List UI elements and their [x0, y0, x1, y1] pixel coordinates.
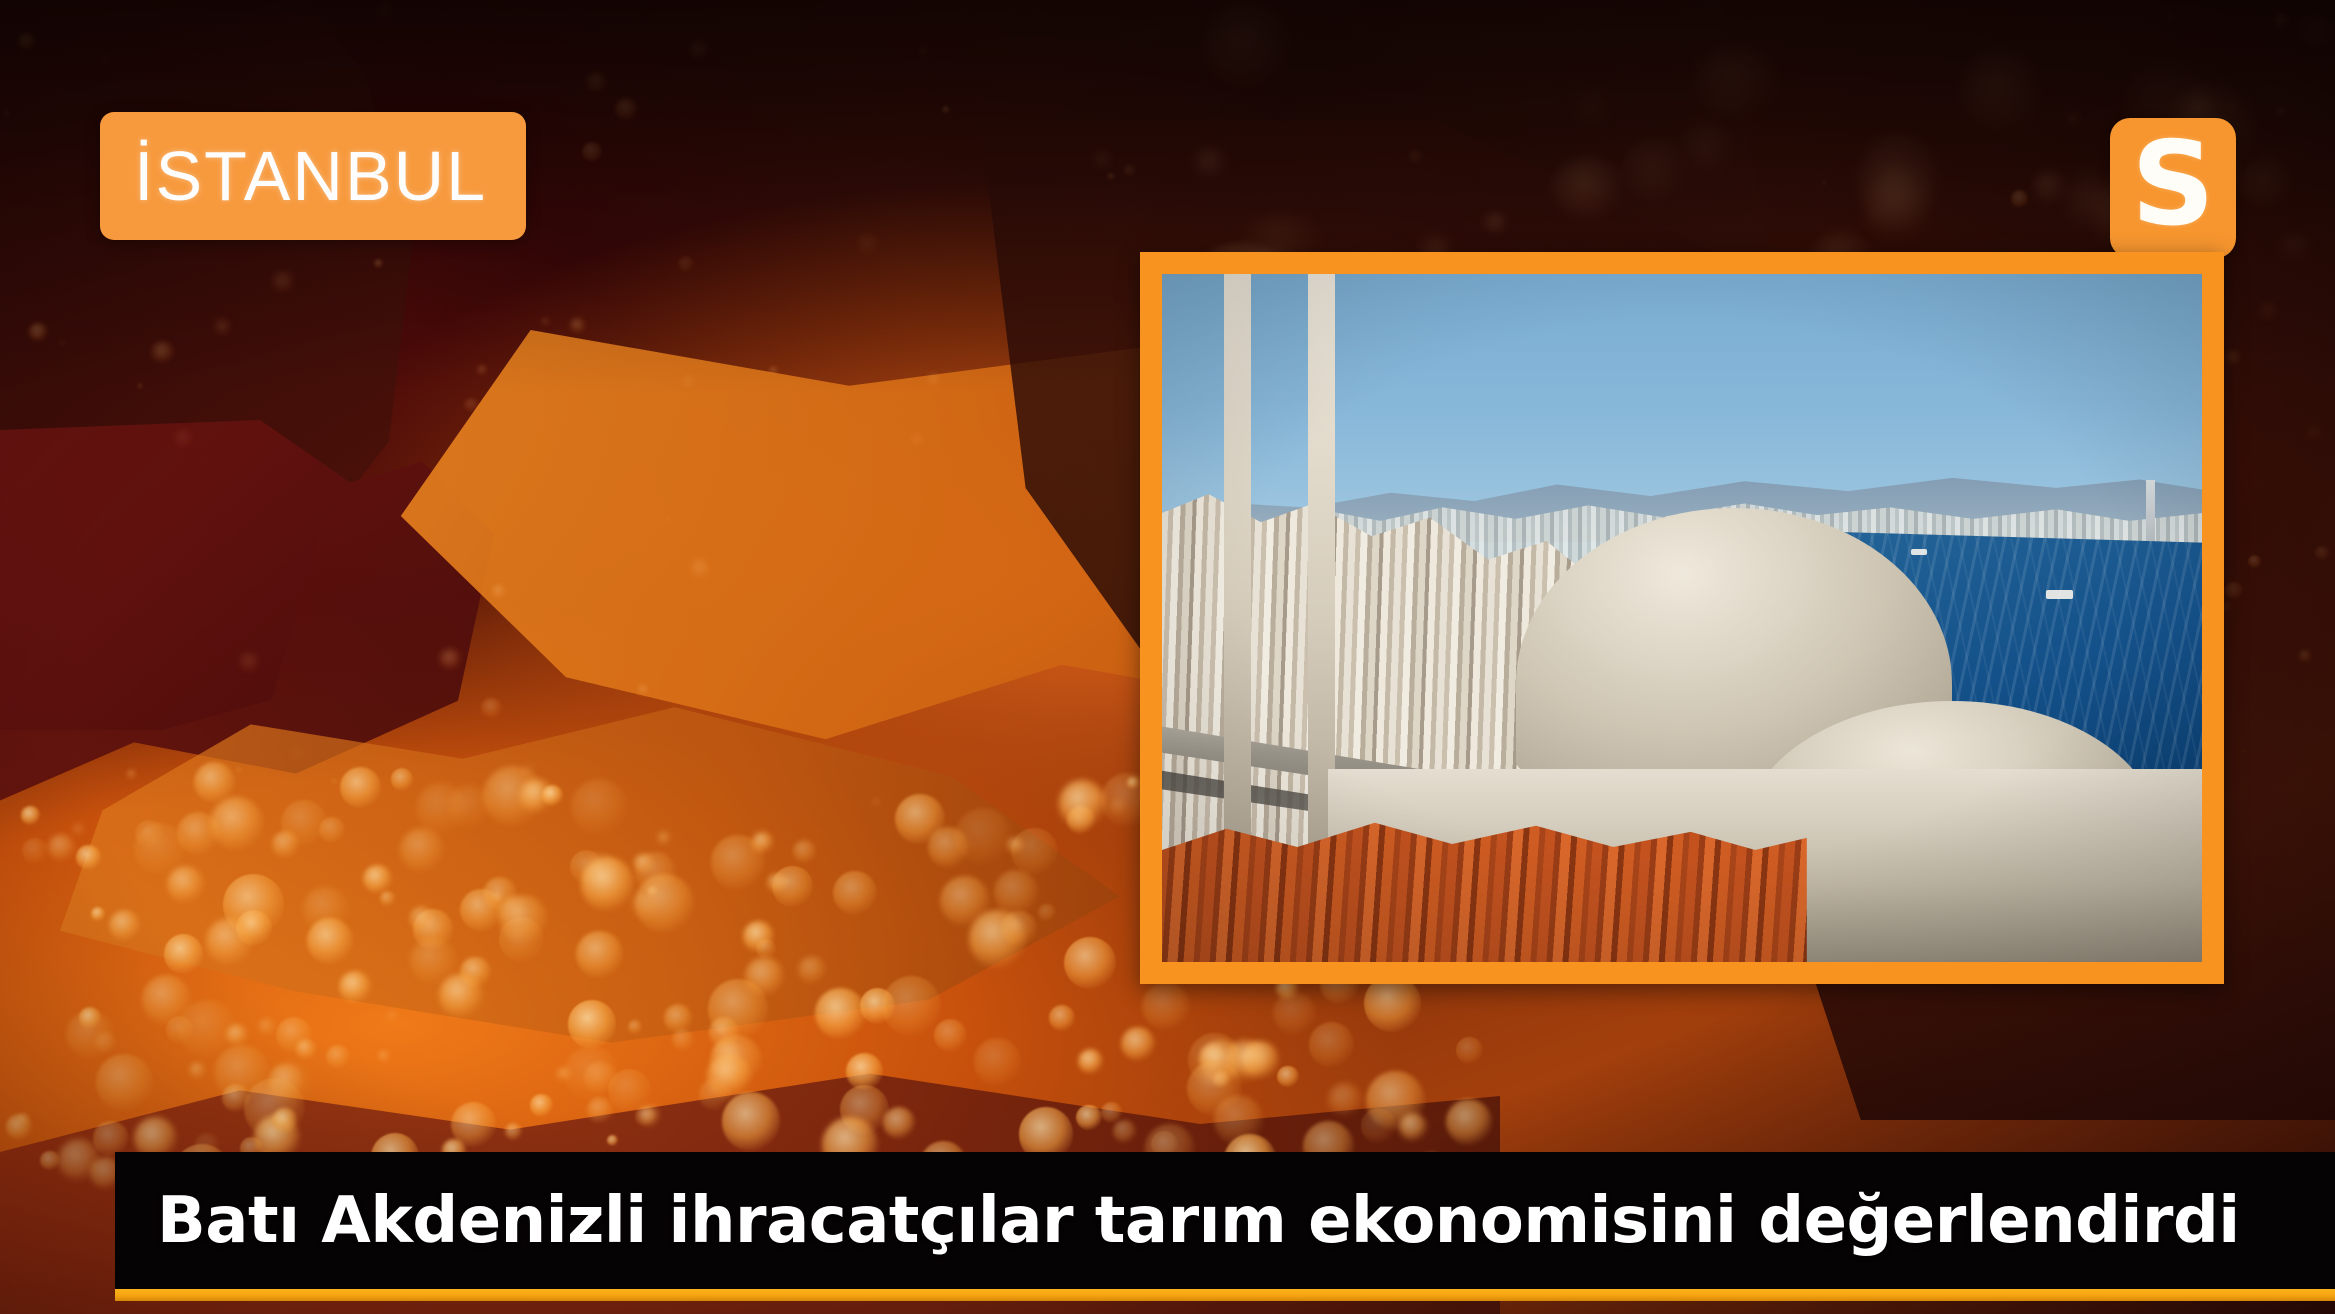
caption-accent-stripe — [115, 1289, 2335, 1301]
news-card: İSTANBUL S — [0, 0, 2335, 1314]
photo-card — [1140, 252, 2224, 984]
istanbul-cityscape-photo — [1162, 274, 2202, 962]
sozcu-s-logo-icon: S — [2131, 127, 2215, 243]
photo-tonal-shade — [1162, 274, 2202, 962]
caption-headline: Batı Akdenizli ihracatçılar tarım ekonom… — [115, 1189, 2240, 1253]
caption-bar: Batı Akdenizli ihracatçılar tarım ekonom… — [115, 1152, 2335, 1289]
city-badge-label: İSTANBUL — [100, 141, 487, 211]
brand-logo[interactable]: S — [2110, 118, 2236, 258]
city-badge: İSTANBUL — [100, 112, 526, 240]
